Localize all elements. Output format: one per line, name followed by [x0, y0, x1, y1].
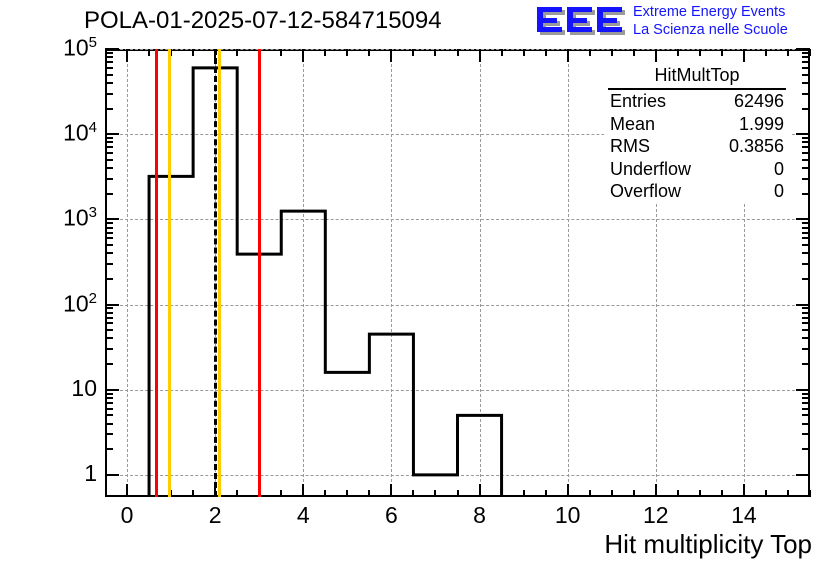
x-axis-tick-label: 12	[626, 502, 686, 529]
eee-logo-text: Extreme Energy Events La Scienza nelle S…	[633, 3, 836, 41]
x-axis-tick-label: 14	[714, 502, 774, 529]
stats-box-rows: Entries62496Mean1.999RMS0.3856Underflow0…	[604, 90, 790, 203]
eee-logo-line2: La Scienza nelle Scuole	[633, 21, 836, 39]
stats-row-value: 62496	[734, 91, 784, 113]
stats-row: Entries62496	[604, 90, 790, 113]
stats-row-key: Overflow	[610, 181, 681, 203]
x-axis-tick-label: 2	[185, 502, 245, 529]
stats-row: Overflow0	[604, 180, 790, 203]
x-axis-tick-label: 10	[538, 502, 598, 529]
stats-box-title: HitMultTop	[604, 63, 790, 88]
x-axis-tick-label: 4	[273, 502, 333, 529]
stats-row: Underflow0	[604, 158, 790, 181]
stats-row: Mean1.999	[604, 113, 790, 136]
stats-row-value: 0	[774, 181, 784, 203]
stats-row-value: 1.999	[739, 114, 784, 136]
marker-line-red	[155, 49, 158, 497]
root-canvas: POLA-01-2025-07-12-584715094	[0, 0, 836, 572]
histogram-outline	[149, 68, 502, 497]
marker-line-orange	[168, 49, 171, 497]
x-axis-tick-label: 6	[361, 502, 421, 529]
y-axis-tick-label: 104	[27, 119, 97, 147]
page-title: POLA-01-2025-07-12-584715094	[84, 7, 442, 35]
eee-logo: Extreme Energy Events La Scienza nelle S…	[535, 2, 835, 42]
y-axis-tick-label: 105	[27, 34, 97, 62]
y-axis-tick-label: 102	[27, 290, 97, 318]
stats-row-value: 0	[774, 159, 784, 181]
x-axis-tick-label: 0	[97, 502, 157, 529]
eee-logo-mark	[535, 3, 627, 39]
marker-line-red	[258, 49, 261, 497]
y-axis-tick-label: 1	[27, 460, 97, 487]
x-axis-tick-label: 8	[450, 502, 510, 529]
stats-row-key: Underflow	[610, 159, 691, 181]
stats-box: HitMultTop Entries62496Mean1.999RMS0.385…	[604, 63, 790, 203]
stats-row-key: RMS	[610, 136, 650, 158]
y-axis-tick-label: 103	[27, 204, 97, 232]
stats-row-value: 0.3856	[729, 136, 784, 158]
y-axis-tick-label: 10	[27, 375, 97, 402]
stats-row: RMS0.3856	[604, 135, 790, 158]
stats-row-key: Mean	[610, 114, 655, 136]
marker-line-orange	[218, 49, 221, 497]
stats-row-key: Entries	[610, 91, 666, 113]
x-axis-title: Hit multiplicity Top	[604, 529, 812, 560]
eee-logo-line1: Extreme Energy Events	[633, 3, 836, 21]
